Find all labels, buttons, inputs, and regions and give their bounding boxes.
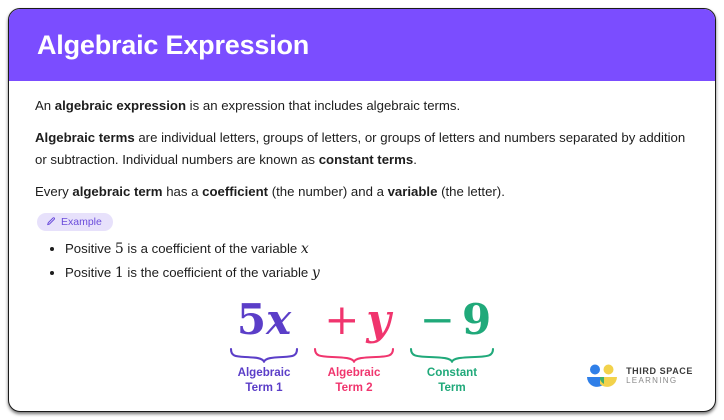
example-bullet-list: Positive 5 is a coefficient of the varia… xyxy=(35,238,689,284)
equation-term-3-glyphs: −9 xyxy=(413,296,491,344)
example-badge: Example xyxy=(37,213,113,232)
plus-operator: + xyxy=(317,299,366,341)
equation-term-3-label: Constant Term xyxy=(427,366,477,396)
bullet-2-part-2: 1 xyxy=(115,265,124,281)
list-item: Positive 1 is the coefficient of the var… xyxy=(65,262,689,285)
paragraph-3-part-5: (the number) and a xyxy=(268,184,388,199)
coefficient-5: 5 xyxy=(237,299,266,341)
variable-x: x xyxy=(266,299,291,341)
paragraph-1-part-2: algebraic expression xyxy=(55,98,186,113)
minus-operator: − xyxy=(413,299,462,341)
paragraph-2-part-4: . xyxy=(413,152,417,167)
bullet-2-part-4: y xyxy=(312,265,320,281)
paragraph-3-part-2: algebraic term xyxy=(72,184,162,199)
paragraph-1: An algebraic expression is an expression… xyxy=(35,95,689,118)
equation-term-2-label: Algebraic Term 2 xyxy=(328,366,381,396)
page-background: Algebraic Expression An algebraic expres… xyxy=(0,0,724,420)
equation-term-1-glyphs: 5x xyxy=(237,296,291,344)
bullet-1-part-2: 5 xyxy=(115,241,124,257)
paragraph-3-part-6: variable xyxy=(388,184,438,199)
bullet-1-part-3: is a coefficient of the variable xyxy=(124,241,301,256)
bullet-1-part-4: x xyxy=(301,241,309,257)
card-header: Algebraic Expression xyxy=(9,9,715,81)
variable-y: y xyxy=(366,299,390,341)
equation-term-1: 5x Algebraic Term 1 xyxy=(229,296,299,396)
bullet-1-part-1: Positive xyxy=(65,241,115,256)
paragraph-2-part-3: constant terms xyxy=(319,152,414,167)
bullet-2-part-3: is the coefficient of the variable xyxy=(124,265,312,280)
logo-line-2: LEARNING xyxy=(626,377,693,386)
bullet-2-part-1: Positive xyxy=(65,265,115,280)
paragraph-3-part-4: coefficient xyxy=(202,184,268,199)
card-body: An algebraic expression is an expression… xyxy=(9,81,715,404)
underbrace-term-2 xyxy=(313,347,395,363)
underbrace-term-3 xyxy=(409,347,495,363)
example-badge-label: Example xyxy=(61,217,102,228)
paragraph-2-part-1: Algebraic terms xyxy=(35,130,135,145)
brand-logo: THIRD SPACE LEARNING xyxy=(585,363,693,389)
equation-term-3: −9 Constant Term xyxy=(409,296,495,396)
paragraph-3: Every algebraic term has a coefficient (… xyxy=(35,181,689,204)
logo-text: THIRD SPACE LEARNING xyxy=(626,366,693,385)
equation-term-1-label: Algebraic Term 1 xyxy=(238,366,291,396)
page-title: Algebraic Expression xyxy=(37,32,309,59)
constant-9: 9 xyxy=(462,299,491,341)
paragraph-1-part-3: is an expression that includes algebraic… xyxy=(186,98,460,113)
paragraph-1-part-1: An xyxy=(35,98,55,113)
paragraph-3-part-7: (the letter). xyxy=(437,184,504,199)
lesson-card: Algebraic Expression An algebraic expres… xyxy=(8,8,716,412)
paragraph-3-part-3: has a xyxy=(163,184,203,199)
third-space-learning-mark-icon xyxy=(585,363,619,389)
equation-term-2: +y Algebraic Term 2 xyxy=(313,296,395,396)
paragraph-3-part-1: Every xyxy=(35,184,72,199)
equation-term-2-glyphs: +y xyxy=(317,296,391,344)
equation-row: 5x Algebraic Term 1 +y xyxy=(229,296,495,396)
badge-row: Example xyxy=(37,213,689,232)
underbrace-term-1 xyxy=(229,347,299,363)
paragraph-2: Algebraic terms are individual letters, … xyxy=(35,127,689,172)
list-item: Positive 5 is a coefficient of the varia… xyxy=(65,238,689,261)
pencil-icon xyxy=(46,217,56,227)
